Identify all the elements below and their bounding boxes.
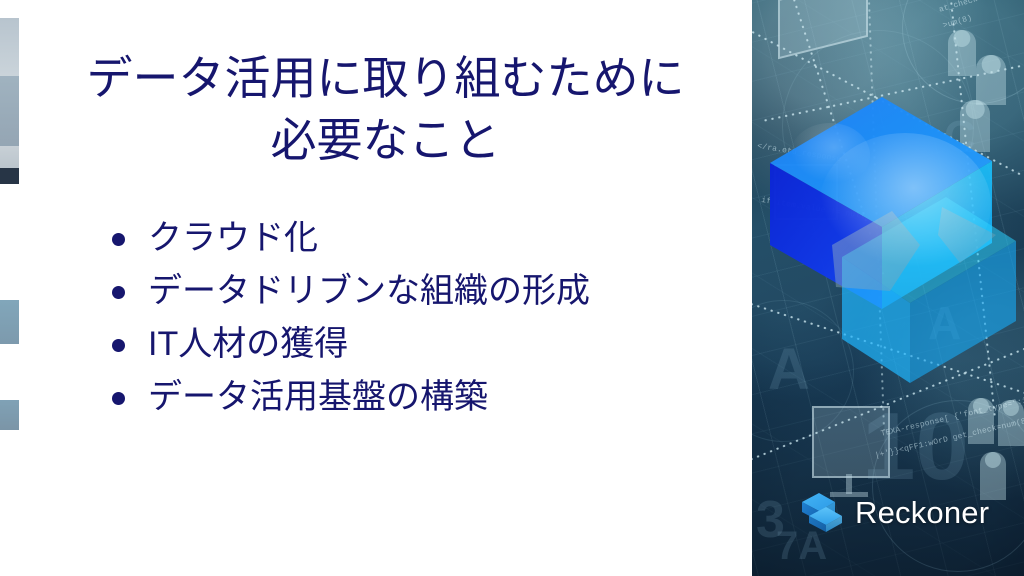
bullet-item-label: データ活用基盤の構築: [148, 378, 488, 416]
slide-title-line-2: 必要なこと: [19, 109, 752, 171]
bullet-item: データドリブンな組織の形成: [106, 265, 736, 318]
decor-numeral: C: [944, 112, 976, 162]
decor-numeral: A: [928, 296, 961, 350]
bullet-dot-icon: [112, 286, 125, 299]
bullet-item: IT人材の獲得: [106, 318, 736, 371]
bullet-list: クラウド化 データドリブンな組織の形成 IT人材の獲得 データ活用基盤の構築: [106, 212, 736, 424]
bullet-item-label: IT人材の獲得: [148, 325, 348, 363]
person-silhouette: [948, 30, 976, 76]
slide-title: データ活用に取り組むために 必要なこと: [19, 47, 752, 171]
bullet-dot-icon: [112, 233, 125, 246]
decor-numeral: 10: [862, 392, 969, 502]
reckoner-wordmark: Reckoner: [855, 497, 989, 528]
bullet-dot-icon: [112, 339, 125, 352]
bullet-item-label: クラウド化: [148, 219, 318, 257]
person-silhouette: [976, 55, 1006, 105]
left-photo-strip: [0, 0, 19, 576]
slide-title-line-1: データ活用に取り組むために: [19, 47, 752, 109]
bullet-item-label: データドリブンな組織の形成: [148, 272, 590, 310]
reckoner-cube-logo-icon: [800, 490, 844, 534]
decor-numeral: A: [768, 336, 810, 403]
bullet-dot-icon: [112, 392, 125, 405]
bullet-item: データ活用基盤の構築: [106, 371, 736, 424]
slide-canvas: TEXA-response[ {'font_type=":item" |+'}}…: [0, 0, 1024, 576]
bullet-item: クラウド化: [106, 212, 736, 265]
reckoner-logo: Reckoner: [800, 490, 989, 534]
